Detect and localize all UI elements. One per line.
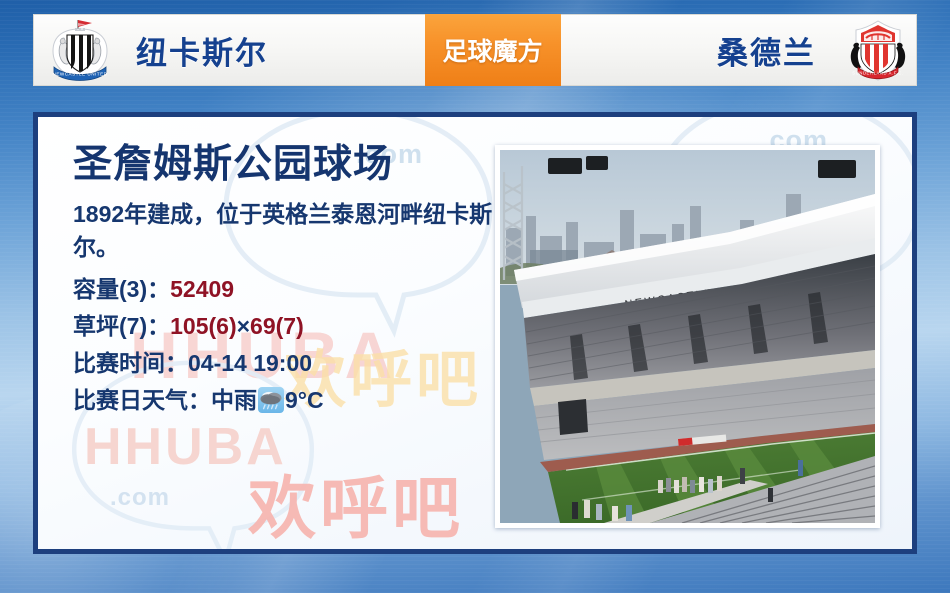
match-preview-stage: NEWCASTLE UNITED 纽卡斯尔 足球魔方 桑德兰 [0, 0, 950, 593]
svg-text:NEWCASTLE UNITED: NEWCASTLE UNITED [53, 71, 108, 76]
stadium-pitch-row: 草坪(7)：105(6)×69(7) [73, 308, 493, 345]
rain-cloud-icon [258, 387, 284, 413]
weather-temperature: 9°C [285, 387, 324, 413]
match-time-row: 比赛时间：04-14 19:00 [73, 345, 493, 382]
pitch-multiply-sign: × [237, 313, 250, 339]
match-time-label: 比赛时间 [73, 350, 165, 376]
sunderland-afc-crest: SUNDERLAND A.F.C. [846, 17, 910, 83]
brand-logo[interactable]: 足球魔方 [425, 14, 561, 86]
svg-text:SUNDERLAND A.F.C.: SUNDERLAND A.F.C. [852, 71, 903, 76]
stadium-title: 圣詹姆斯公园球场 [73, 145, 493, 186]
watermark-hhuba-bottom: HHUBA [84, 417, 287, 477]
weather-condition: 中雨 [211, 387, 257, 413]
stadium-info-column: 圣詹姆斯公园球场 1892年建成，位于英格兰泰恩河畔纽卡斯尔。 容量(3)：52… [73, 145, 493, 420]
brand-logo-text: 足球魔方 [442, 32, 542, 68]
pitch-width-value: 69(7) [250, 313, 304, 339]
away-team-name: 桑德兰 [717, 28, 816, 73]
stadium-capacity-row: 容量(3)：52409 [73, 271, 493, 308]
stadium-info-panel: .com .com HHUBA 欢呼吧 HHUBA .com 欢呼吧 圣詹姆斯公… [33, 112, 917, 554]
home-team-name: 纽卡斯尔 [136, 28, 268, 73]
weather-colon: ： [188, 387, 211, 413]
stadium-photo: NEWCASTLE UNITED [500, 150, 875, 523]
weather-label: 比赛日天气 [73, 387, 188, 413]
pitch-length-value: 105(6) [170, 313, 236, 339]
match-time-value: 04-14 19:00 [188, 350, 312, 376]
match-weather-row: 比赛日天气：中雨 9°C [73, 382, 493, 419]
stadium-description: 1892年建成，位于英格兰泰恩河畔纽卡斯尔。 [73, 198, 493, 265]
watermark-brand-cn-bottom: 欢呼吧 [248, 453, 464, 552]
pitch-label: 草坪(7) [73, 313, 147, 339]
match-header-bar: NEWCASTLE UNITED 纽卡斯尔 足球魔方 桑德兰 [33, 14, 917, 86]
watermark-domain-bottom: .com [110, 484, 170, 512]
newcastle-united-crest: NEWCASTLE UNITED [48, 17, 112, 83]
stadium-photo-frame: NEWCASTLE UNITED [495, 145, 880, 528]
capacity-value: 52409 [170, 276, 234, 302]
pitch-colon: ： [147, 313, 170, 339]
capacity-colon: ： [147, 276, 170, 302]
capacity-label: 容量(3) [73, 276, 147, 302]
match-time-colon: ： [165, 350, 188, 376]
